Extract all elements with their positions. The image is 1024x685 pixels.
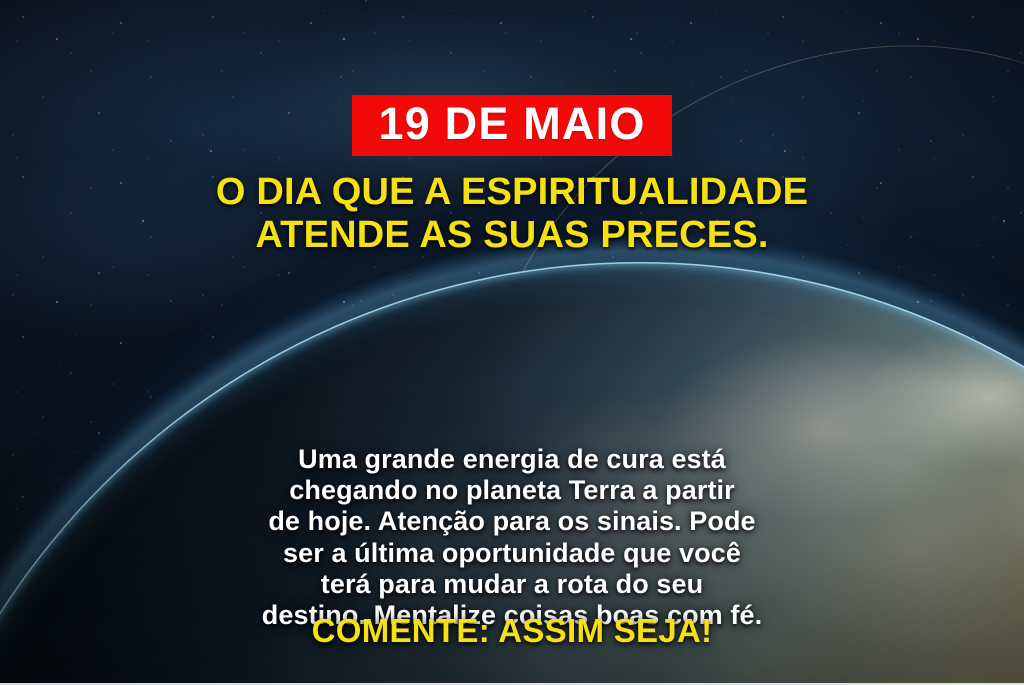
poster-content: 19 DE MAIO O DIA QUE A ESPIRITUALIDADE A… (0, 0, 1024, 685)
body-line-2: chegando no planeta Terra a partir (0, 475, 1024, 506)
date-banner-text: 19 DE MAIO (378, 100, 645, 147)
date-banner: 19 DE MAIO (352, 95, 671, 156)
headline: O DIA QUE A ESPIRITUALIDADE ATENDE AS SU… (32, 171, 992, 257)
headline-line-2: ATENDE AS SUAS PRECES. (32, 214, 992, 257)
call-to-action-text: COMENTE: ASSIM SEJA! (0, 613, 1024, 649)
body-line-5: terá para mudar a rota do seu (0, 569, 1024, 600)
body-line-4: ser a última oportunidade que você (0, 538, 1024, 569)
poster-canvas: 19 DE MAIO O DIA QUE A ESPIRITUALIDADE A… (0, 0, 1024, 685)
body-line-3: de hoje. Atenção para os sinais. Pode (0, 506, 1024, 537)
body-copy: Uma grande energia de cura está chegando… (0, 444, 1024, 631)
headline-line-1: O DIA QUE A ESPIRITUALIDADE (32, 171, 992, 214)
body-line-1: Uma grande energia de cura está (0, 444, 1024, 475)
